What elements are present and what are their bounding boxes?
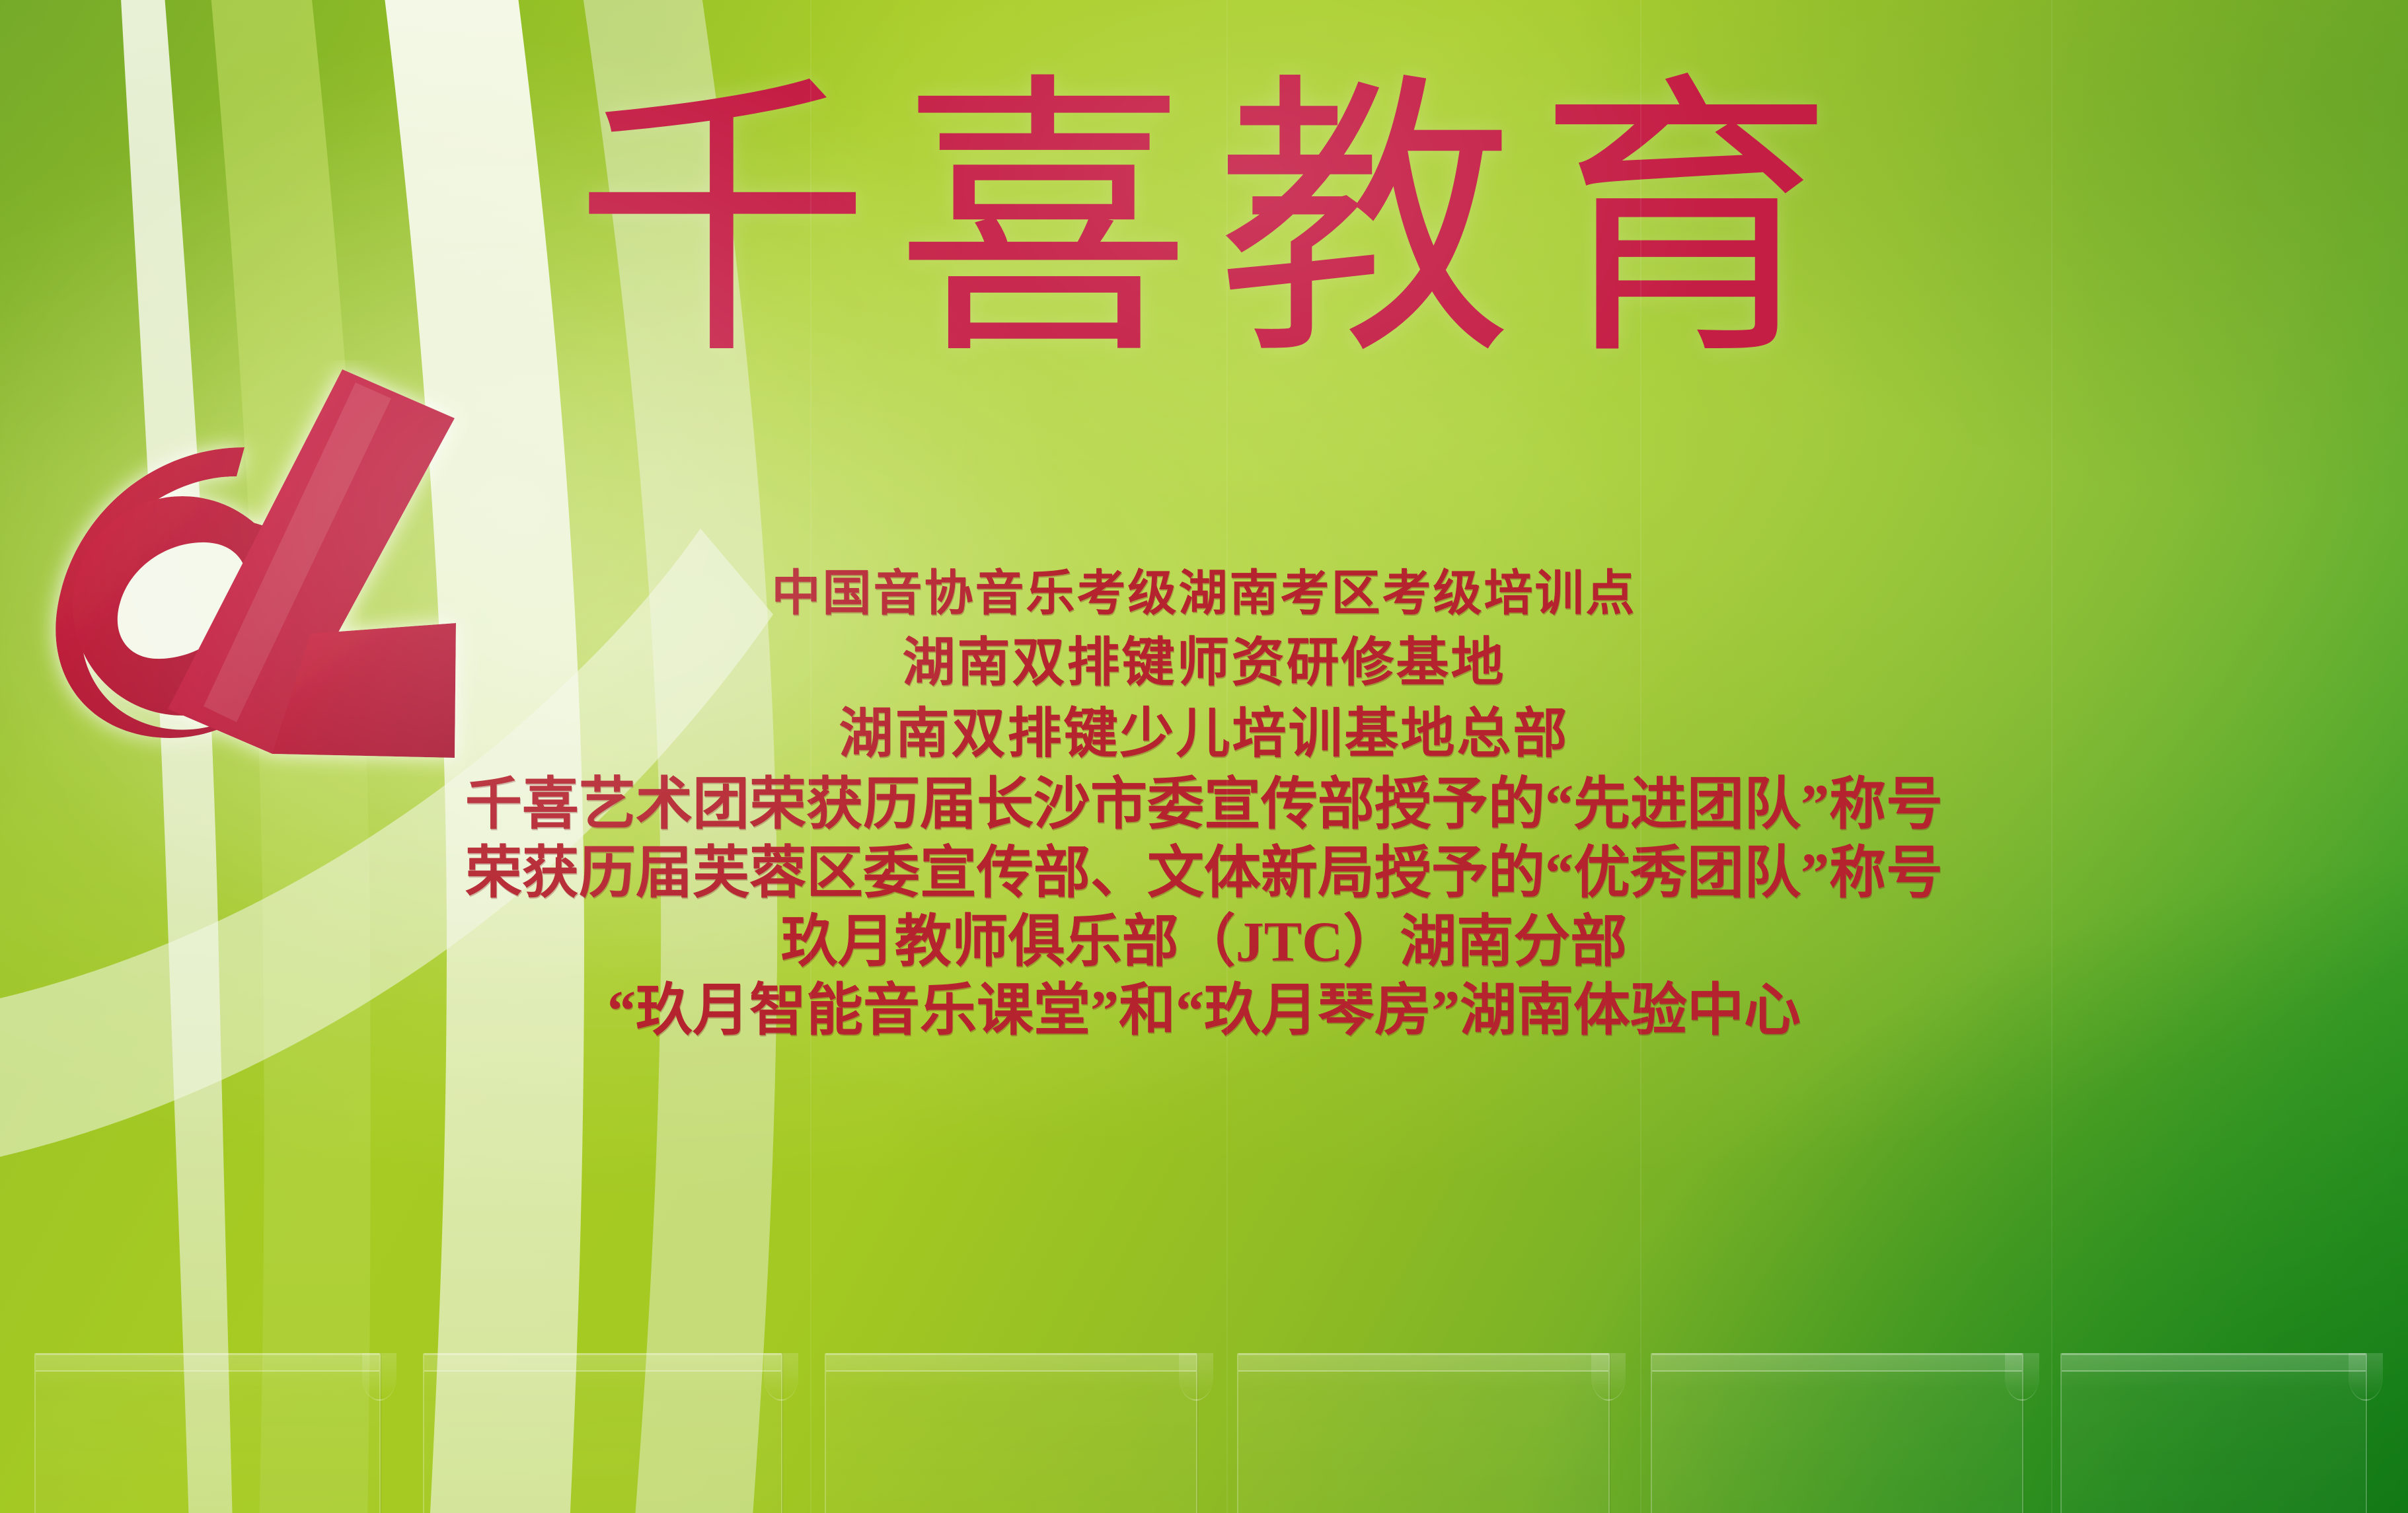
credential-line-2: 湖南双排键师资研修基地: [903, 637, 1506, 690]
credential-line-1: 中国音协音乐考级湖南考区考级培训点: [772, 570, 1637, 618]
panel-seam: [1226, 0, 1228, 1513]
panel-seam: [810, 0, 811, 1513]
page-title: 千喜教育: [370, 13, 2062, 436]
credential-line-3: 湖南双排键少儿培训基地总部: [839, 707, 1569, 761]
panel-seam: [1640, 0, 1641, 1513]
credential-line-7: “玖月智能音乐课堂”和“玖月琴房”湖南体验中心: [607, 982, 1801, 1039]
acrylic-brochure-holder[interactable]: [825, 1353, 1197, 1513]
acrylic-brochure-holder[interactable]: [423, 1353, 782, 1513]
panel-seam: [2051, 0, 2052, 1513]
acrylic-brochure-holder[interactable]: [1237, 1353, 1610, 1513]
credentials-list: 中国音协音乐考级湖南考区考级培训点 湖南双排键师资研修基地 湖南双排键少儿培训基…: [0, 570, 2408, 1039]
credential-line-4: 千喜艺术团荣获历届长沙市委宣传部授予的“先进团队”称号: [465, 776, 1943, 832]
acrylic-brochure-holder[interactable]: [2060, 1353, 2367, 1513]
wall-sign-photo: 千喜教育 中国音协音乐考级湖南考区考级培训点 湖南双排键师资研修基地 湖南双排键…: [0, 0, 2408, 1513]
acrylic-brochure-holder[interactable]: [34, 1353, 381, 1513]
brochure-holder-row: [0, 1353, 2408, 1513]
credential-line-6: 玖月教师俱乐部（JTC）湖南分部: [781, 913, 1627, 970]
credential-line-5: 荣获历届芙蓉区委宣传部、文体新局授予的“优秀团队”称号: [465, 844, 1943, 901]
acrylic-brochure-holder[interactable]: [1651, 1353, 2023, 1513]
